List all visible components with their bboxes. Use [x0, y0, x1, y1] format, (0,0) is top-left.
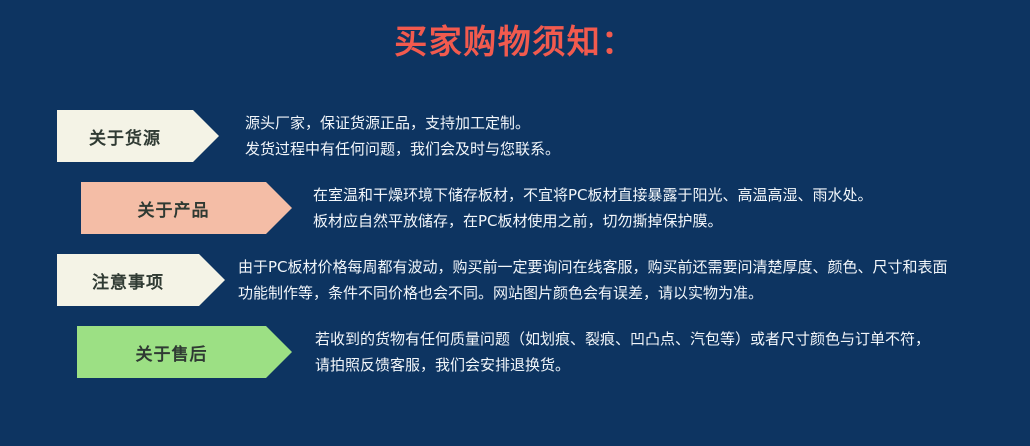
notice-line: 功能制作等，条件不同价格也会不同。网站图片颜色会有误差，请以实物为准。 [238, 280, 948, 306]
notice-row: 关于售后 若收到的货物有任何质量问题（如划痕、裂痕、凹凸点、汽包等）或者尺寸颜色… [0, 326, 1030, 398]
notice-row: 注意事项 由于PC板材价格每周都有波动，购买前一定要询问在线客服，购买前还需要问… [0, 254, 1030, 326]
notice-line: 请拍照反馈客服，我们会安排退换货。 [315, 352, 930, 378]
notice-body-source: 源头厂家，保证货源正品，支持加工定制。 发货过程中有任何问题，我们会及时与您联系… [245, 110, 560, 162]
notice-body-aftersales: 若收到的货物有任何质量问题（如划痕、裂痕、凹凸点、汽包等）或者尺寸颜色与订单不符… [315, 326, 930, 378]
notice-tag-source: 关于货源 [57, 110, 219, 162]
notice-body-product: 在室温和干燥环境下储存板材，不宜将PC板材直接暴露于阳光、高温高湿、雨水处。 板… [313, 182, 873, 234]
page-title: 买家购物须知： [0, 22, 1030, 62]
notice-line: 由于PC板材价格每周都有波动，购买前一定要询问在线客服，购买前还需要问清楚厚度、… [238, 254, 948, 280]
notice-line: 板材应自然平放储存，在PC板材使用之前，切勿撕掉保护膜。 [313, 208, 873, 234]
buyer-notice-page: 买家购物须知： 关于货源 源头厂家，保证货源正品，支持加工定制。 发货过程中有任… [0, 0, 1030, 446]
notice-tag-attention: 注意事项 [57, 254, 225, 306]
notice-line: 发货过程中有任何问题，我们会及时与您联系。 [245, 136, 560, 162]
notice-line: 若收到的货物有任何质量问题（如划痕、裂痕、凹凸点、汽包等）或者尺寸颜色与订单不符… [315, 326, 930, 352]
notice-tag-aftersales: 关于售后 [77, 326, 292, 378]
notice-line: 在室温和干燥环境下储存板材，不宜将PC板材直接暴露于阳光、高温高湿、雨水处。 [313, 182, 873, 208]
notice-body-attention: 由于PC板材价格每周都有波动，购买前一定要询问在线客服，购买前还需要问清楚厚度、… [238, 254, 948, 306]
notice-tag-product: 关于产品 [81, 182, 292, 234]
notice-line: 源头厂家，保证货源正品，支持加工定制。 [245, 110, 560, 136]
notice-rows: 关于货源 源头厂家，保证货源正品，支持加工定制。 发货过程中有任何问题，我们会及… [0, 110, 1030, 398]
notice-row: 关于货源 源头厂家，保证货源正品，支持加工定制。 发货过程中有任何问题，我们会及… [0, 110, 1030, 182]
notice-row: 关于产品 在室温和干燥环境下储存板材，不宜将PC板材直接暴露于阳光、高温高湿、雨… [0, 182, 1030, 254]
